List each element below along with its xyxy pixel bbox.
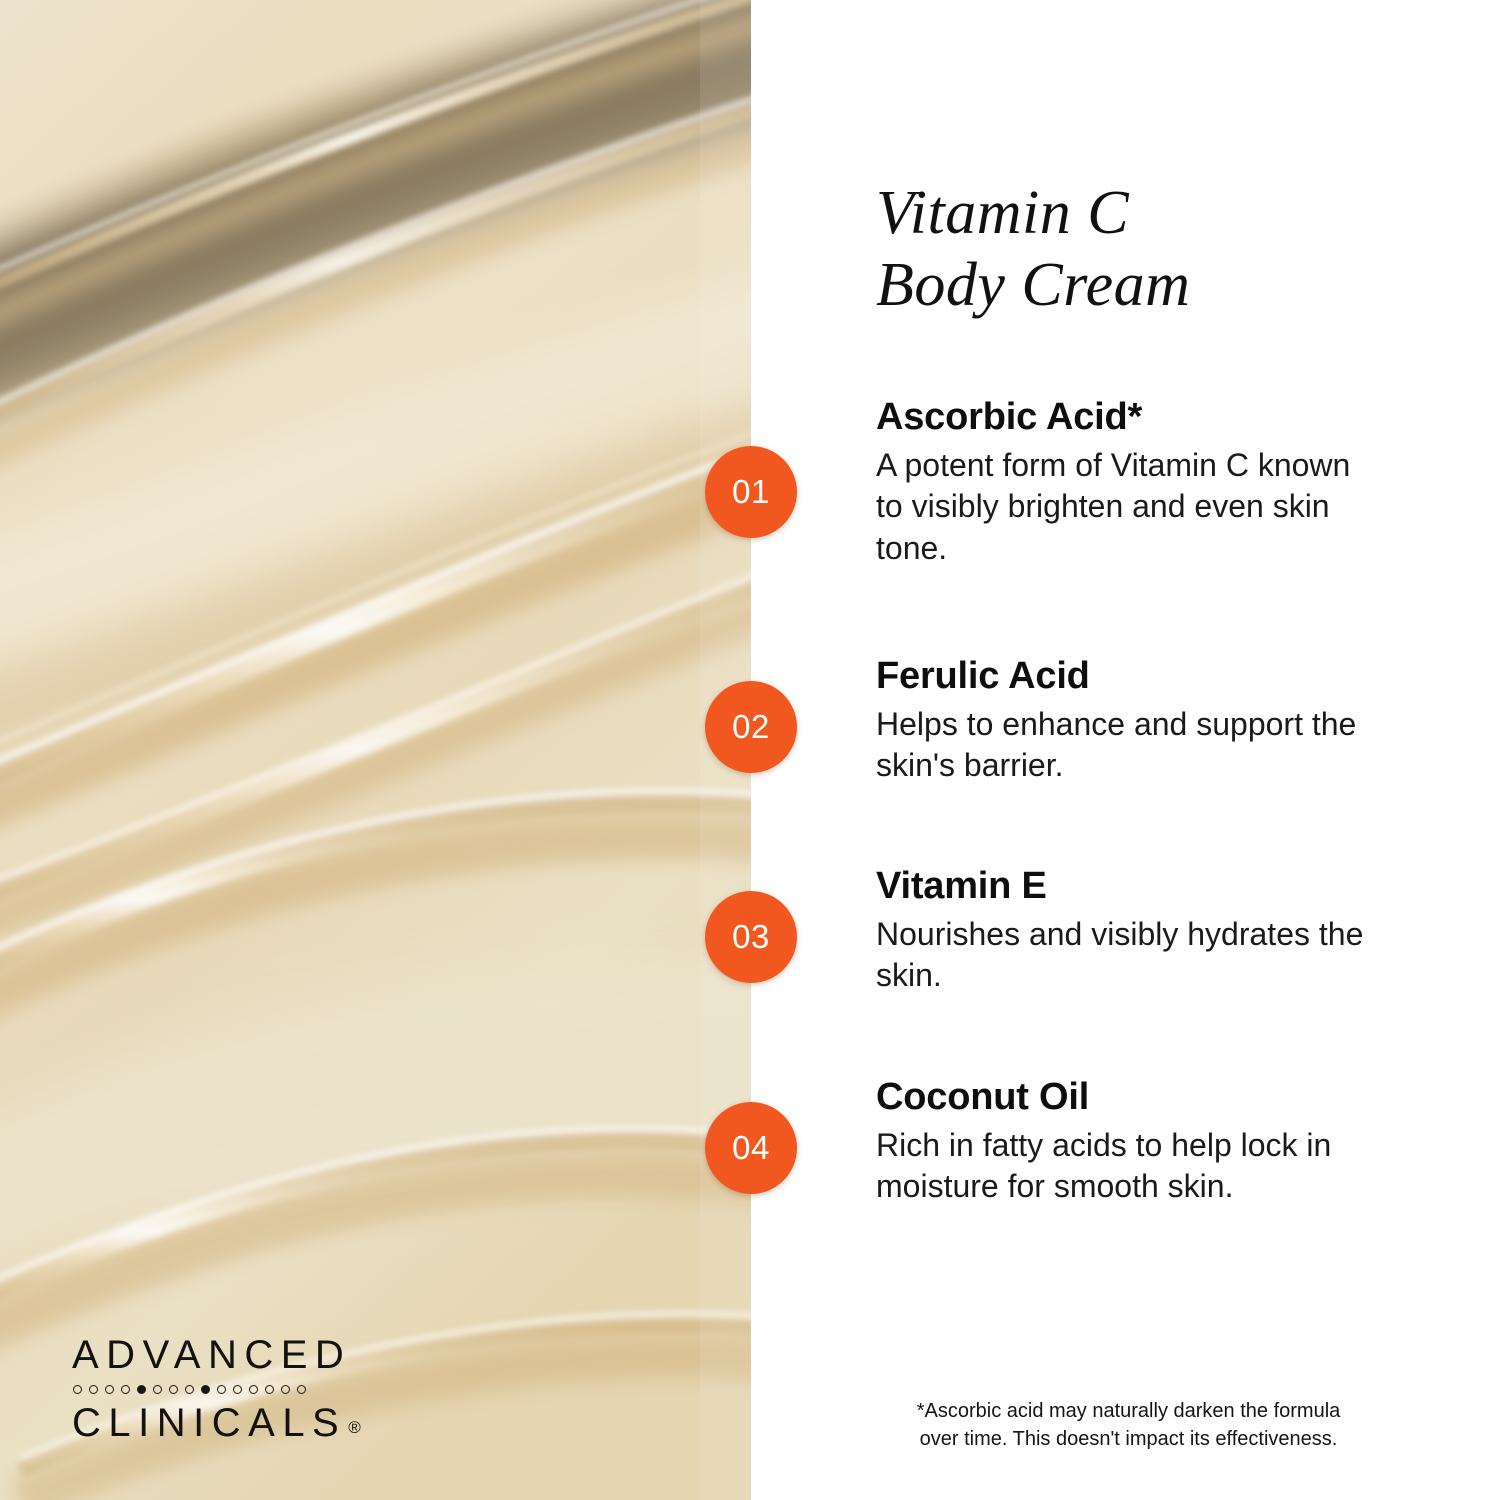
logo-dot-hollow xyxy=(233,1385,242,1394)
badge-number: 03 xyxy=(732,918,770,956)
product-title: Vitamin C Body Cream xyxy=(876,178,1376,322)
ingredient-item-ascorbic-acid: Ascorbic Acid* A potent form of Vitamin … xyxy=(876,396,1381,569)
logo-dot-hollow xyxy=(217,1385,226,1394)
logo-dot-hollow xyxy=(73,1385,82,1394)
content-column: Vitamin C Body Cream Ascorbic Acid* A po… xyxy=(876,0,1388,1500)
logo-dot-hollow xyxy=(89,1385,98,1394)
logo-word-clinicals: CLINICALS xyxy=(72,1402,346,1444)
ingredient-description: Nourishes and visibly hydrates the skin. xyxy=(876,914,1381,997)
logo-line-clinicals: CLINICALS ® xyxy=(72,1402,372,1444)
badge-number: 02 xyxy=(732,708,770,746)
ingredient-name: Coconut Oil xyxy=(876,1076,1381,1119)
ingredient-badge-01: 01 xyxy=(705,446,797,538)
cream-texture-image xyxy=(0,0,751,1500)
ingredient-name: Vitamin E xyxy=(876,865,1381,908)
ingredient-description: Rich in fatty acids to help lock in mois… xyxy=(876,1125,1381,1208)
ingredient-item-coconut-oil: Coconut Oil Rich in fatty acids to help … xyxy=(876,1076,1381,1208)
logo-dot-hollow xyxy=(297,1385,306,1394)
logo-dot-hollow xyxy=(265,1385,274,1394)
ingredient-description: A potent form of Vitamin C known to visi… xyxy=(876,445,1381,570)
footnote-line-1: *Ascorbic acid may naturally darken the … xyxy=(876,1398,1381,1426)
logo-dot-hollow xyxy=(121,1385,130,1394)
ingredient-item-ferulic-acid: Ferulic Acid Helps to enhance and suppor… xyxy=(876,655,1381,787)
ingredient-badge-04: 04 xyxy=(705,1102,797,1194)
logo-dot-hollow xyxy=(153,1385,162,1394)
footnote-line-2: over time. This doesn't impact its effec… xyxy=(876,1426,1381,1454)
ingredient-badge-02: 02 xyxy=(705,681,797,773)
footnote-disclaimer: *Ascorbic acid may naturally darken the … xyxy=(876,1398,1381,1453)
product-infographic: 01 02 03 04 Vitamin C Body Cream Ascorbi… xyxy=(0,0,1500,1500)
logo-dot-row xyxy=(73,1379,372,1399)
ingredient-name: Ascorbic Acid* xyxy=(876,396,1381,439)
brand-logo: ADVANCED CLINICALS ® xyxy=(72,1334,372,1445)
logo-dot-hollow xyxy=(281,1385,290,1394)
registered-trademark-icon: ® xyxy=(348,1418,361,1438)
logo-dot-filled xyxy=(137,1385,146,1394)
product-title-line-2: Body Cream xyxy=(876,250,1376,322)
logo-dot-hollow xyxy=(169,1385,178,1394)
badge-number: 04 xyxy=(732,1129,770,1167)
logo-word-advanced: ADVANCED xyxy=(72,1334,372,1376)
ingredient-name: Ferulic Acid xyxy=(876,655,1381,698)
ingredient-badge-03: 03 xyxy=(705,891,797,983)
ingredient-description: Helps to enhance and support the skin's … xyxy=(876,704,1381,787)
product-title-line-1: Vitamin C xyxy=(876,178,1376,250)
logo-dot-filled xyxy=(201,1385,210,1394)
logo-dot-hollow xyxy=(249,1385,258,1394)
logo-dot-hollow xyxy=(185,1385,194,1394)
ingredient-item-vitamin-e: Vitamin E Nourishes and visibly hydrates… xyxy=(876,865,1381,997)
logo-dot-hollow xyxy=(105,1385,114,1394)
badge-number: 01 xyxy=(732,473,770,511)
cream-texture-illustration xyxy=(0,0,751,1500)
